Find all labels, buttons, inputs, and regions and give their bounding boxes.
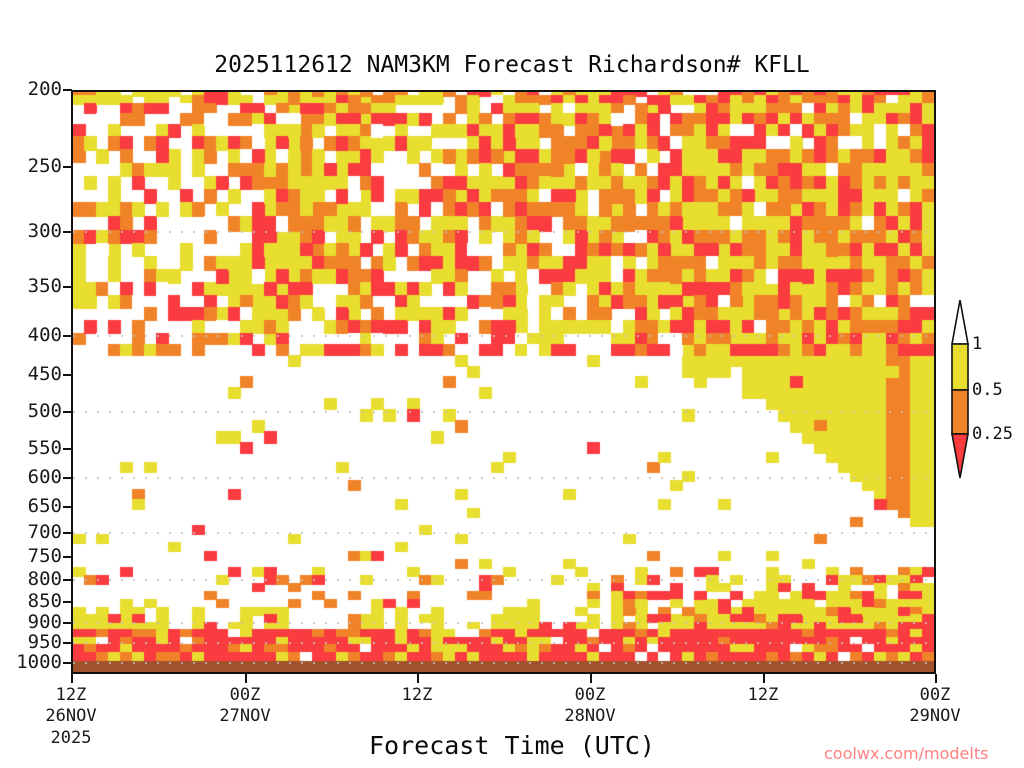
y-tick-label-950: 950 bbox=[2, 633, 62, 652]
x-tick-label-4: 12Z bbox=[748, 685, 779, 706]
y-tick-label-550: 550 bbox=[2, 439, 62, 458]
colorbar-tick-0.5: 0.5 bbox=[972, 382, 1003, 399]
chart-root: 2025112612 NAM3KM Forecast Richardson# K… bbox=[0, 0, 1024, 768]
x-tick-mark-0 bbox=[71, 674, 73, 683]
x-tick-mark-1 bbox=[245, 674, 247, 683]
x-tick-hour: 12Z bbox=[748, 685, 779, 705]
y-tick-label-250: 250 bbox=[2, 157, 62, 176]
y-tick-label-350: 350 bbox=[2, 277, 62, 296]
colorbar-tick-1: 1 bbox=[972, 336, 982, 353]
watermark: coolwx.com/modelts bbox=[824, 744, 988, 763]
y-tick-label-400: 400 bbox=[2, 326, 62, 345]
x-tick-label-3: 00Z28NOV bbox=[564, 685, 615, 728]
y-tick-label-1000: 1000 bbox=[2, 653, 62, 672]
x-tick-hour: 00Z bbox=[575, 685, 606, 705]
richardson-number-colorbar: 1 0.5 0.25 bbox=[938, 296, 1024, 482]
x-tick-mark-3 bbox=[590, 674, 592, 683]
colorbar-segment-orange bbox=[952, 390, 968, 434]
x-tick-label-1: 00Z27NOV bbox=[219, 685, 270, 728]
x-tick-hour: 12Z bbox=[402, 685, 433, 705]
y-tick-label-800: 800 bbox=[2, 570, 62, 589]
colorbar-arrow-down-icon bbox=[952, 434, 968, 478]
x-tick-mark-2 bbox=[417, 674, 419, 683]
x-tick-mark-5 bbox=[935, 674, 937, 683]
x-tick-mark-4 bbox=[763, 674, 765, 683]
x-tick-date: 28NOV bbox=[564, 706, 615, 727]
y-tick-label-650: 650 bbox=[2, 497, 62, 516]
y-tick-label-500: 500 bbox=[2, 402, 62, 421]
y-tick-label-750: 750 bbox=[2, 547, 62, 566]
y-axis-labels: 2002503003504004505005506006507007508008… bbox=[0, 0, 62, 768]
x-tick-hour: 00Z bbox=[920, 685, 951, 705]
y-tick-label-850: 850 bbox=[2, 592, 62, 611]
x-tick-label-2: 12Z bbox=[402, 685, 433, 706]
y-tick-label-700: 700 bbox=[2, 523, 62, 542]
x-tick-date: 29NOV bbox=[909, 706, 960, 727]
y-tick-label-900: 900 bbox=[2, 613, 62, 632]
colorbar-segment-yellow bbox=[952, 344, 968, 390]
richardson-heatmap bbox=[73, 92, 934, 672]
y-tick-label-300: 300 bbox=[2, 222, 62, 241]
x-tick-hour: 00Z bbox=[230, 685, 261, 705]
x-tick-date: 27NOV bbox=[219, 706, 270, 727]
x-tick-date: 26NOV bbox=[45, 706, 96, 727]
x-tick-label-5: 00Z29NOV bbox=[909, 685, 960, 728]
colorbar-arrow-up-icon bbox=[952, 300, 968, 344]
x-tick-hour: 12Z bbox=[56, 685, 87, 705]
colorbar-tick-0.25: 0.25 bbox=[972, 426, 1013, 443]
heatmap-plot-area[interactable] bbox=[71, 90, 936, 674]
y-tick-label-450: 450 bbox=[2, 365, 62, 384]
page-title: 2025112612 NAM3KM Forecast Richardson# K… bbox=[0, 52, 1024, 78]
y-tick-label-200: 200 bbox=[2, 80, 62, 99]
y-tick-label-600: 600 bbox=[2, 468, 62, 487]
